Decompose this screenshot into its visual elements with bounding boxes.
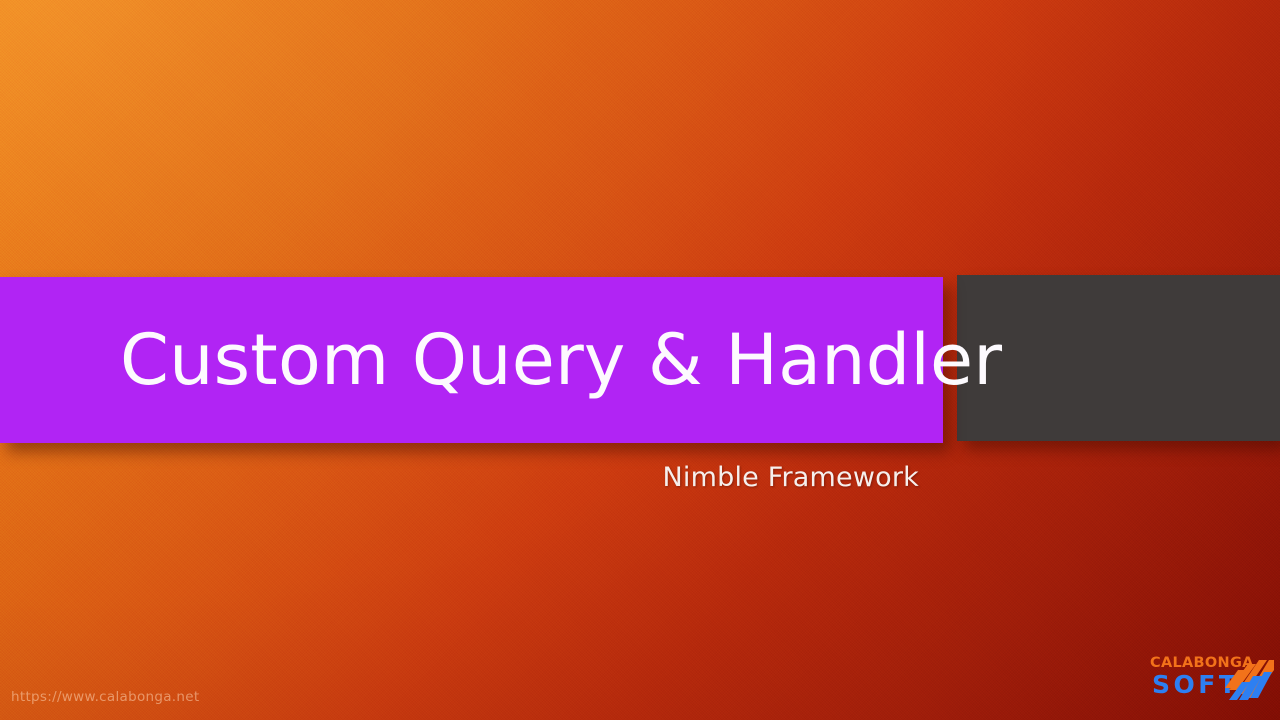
slide-subtitle: Nimble Framework bbox=[0, 462, 919, 494]
presentation-slide: Custom Query & Handler Nimble Framework … bbox=[0, 0, 1280, 720]
decorative-dark-block bbox=[957, 275, 1280, 441]
footer-website-url: https://www.calabonga.net bbox=[11, 689, 199, 705]
slide-title: Custom Query & Handler bbox=[120, 325, 1002, 395]
diagonal-stripes-icon bbox=[1224, 656, 1274, 702]
calabonga-soft-logo: CALABONGA SOFT bbox=[1150, 654, 1274, 704]
title-banner: Custom Query & Handler bbox=[0, 277, 943, 443]
